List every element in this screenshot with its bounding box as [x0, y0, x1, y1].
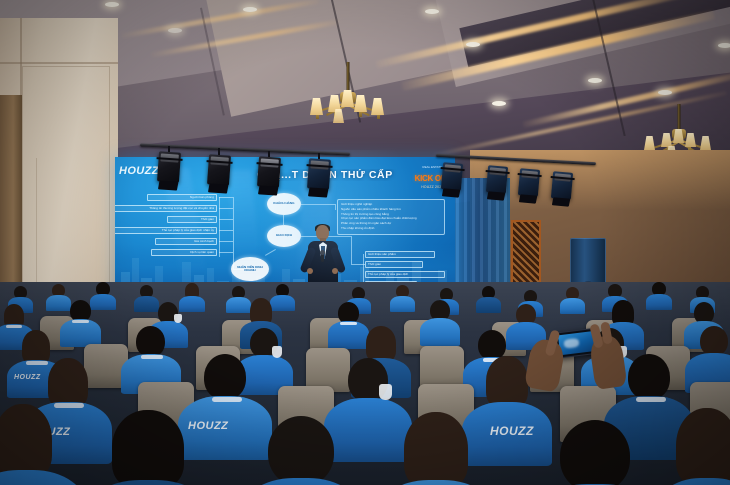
stage-light-fixture: [486, 165, 508, 194]
chandelier-shade: [644, 136, 655, 150]
diagram-connector: [283, 215, 284, 226]
diagram-right-panel: Giới thiệu nghề nghiệp Nguồn cầu sản phẩ…: [337, 199, 445, 235]
stage-light-barndoor: [208, 183, 228, 193]
chandelier-shade: [700, 136, 711, 150]
stage-light-fixture: [551, 171, 573, 200]
chandelier-shade: [661, 133, 672, 147]
diagram-connector: [363, 254, 364, 284]
diagram-oval-customer: KHÁCH HÀNG: [267, 193, 301, 215]
handheld-microphone-icon: [321, 253, 324, 262]
downlight: [718, 43, 730, 48]
diagram-oval-transaction: GIAO DỊCH: [267, 225, 301, 247]
downlight: [243, 7, 257, 12]
downlight: [658, 90, 672, 95]
stage-light-fixture: [207, 154, 231, 185]
diagram-connector: [219, 230, 233, 231]
stage-light-barndoor: [258, 185, 278, 195]
diagram-connector: [219, 252, 233, 253]
column-seam: [0, 62, 118, 64]
stage-light-barndoor: [551, 197, 569, 206]
diagram-lower-right-box: Thời gian: [365, 261, 423, 268]
diagram-connector: [233, 197, 234, 269]
chandelier-rod: [678, 104, 681, 130]
downlight: [105, 2, 119, 7]
presenter-hand-left: [307, 268, 313, 274]
diagram-left-box: Thủ tục pháp lý của giao dịch nhận ủy: [115, 227, 217, 234]
diagram-connector: [351, 236, 352, 264]
diagram-connector: [219, 197, 220, 257]
stage-light-fixture: [257, 156, 281, 187]
downlight: [425, 9, 439, 14]
stage-light-fixture: [307, 158, 331, 189]
downlight: [492, 101, 506, 106]
stage-light-fixture: [518, 168, 540, 197]
stage-light-fixture: [157, 151, 181, 182]
chandelier-shade: [310, 98, 323, 115]
stage-light-barndoor: [308, 187, 328, 197]
diagram-connector: [219, 208, 233, 209]
diagram-left-box: Người bán phòng: [147, 194, 217, 201]
diagram-lower-right-box: Giới thiệu sản phẩm: [365, 251, 435, 258]
diagram-left-box: Dịch vụ liên quan: [151, 249, 217, 256]
diagram-left-box: Thông tin thương lượng đặt cọc và chuyển…: [115, 205, 217, 212]
stage-light-barndoor: [486, 191, 504, 200]
diagram-left-box: Thời gian: [167, 216, 217, 223]
downlight: [588, 78, 602, 83]
presenter-hand-right: [332, 268, 338, 274]
diagram-left-box: Giá minh bạch: [155, 238, 217, 245]
chandelier-shade: [685, 133, 696, 147]
diagram-connector: [219, 241, 233, 242]
stage-light-barndoor: [441, 188, 459, 197]
chandelier-rod: [347, 62, 350, 94]
stage-light-barndoor: [518, 194, 536, 203]
diagram-connector: [219, 197, 233, 198]
diagram-oval-sales-staff: NHÂN VIÊN KINH DOANH: [231, 257, 269, 281]
chandelier-left: [300, 62, 396, 142]
diagram-right-item: Thu nhập không ổn định: [341, 226, 441, 231]
diagram-connector: [219, 219, 233, 220]
stage-light-barndoor: [158, 180, 178, 190]
diagram-lower-right-box: Thủ tục pháp lý của giao dịch: [365, 271, 445, 278]
diagram-connector: [301, 204, 335, 205]
slide-logo-houzz: HOUZZ: [119, 165, 159, 177]
conference-hall-photo: HOUZZ O DỊ...T D...ẢN THỨ CẤP REAL ESTAT…: [0, 0, 730, 485]
stage-light-fixture: [441, 162, 463, 191]
diagram-connector: [335, 204, 336, 210]
downlight: [466, 42, 480, 47]
downlight: [168, 28, 182, 33]
chandelier-shade: [371, 98, 384, 115]
